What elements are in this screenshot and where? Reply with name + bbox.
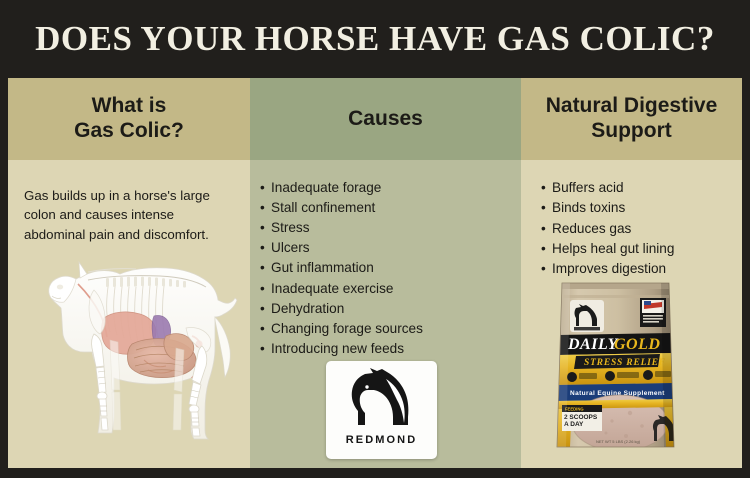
column-3-header-text: Natural Digestive Support	[546, 94, 718, 144]
column-1-header-line1: What is	[92, 94, 167, 117]
svg-text:DAILY: DAILY	[567, 336, 619, 353]
list-item: Stress	[260, 218, 510, 238]
redmond-horse-logo-icon	[346, 367, 418, 433]
list-item: Inadequate forage	[260, 178, 510, 198]
svg-text:GOLD: GOLD	[614, 336, 660, 353]
title-banner: DOES YOUR HORSE HAVE GAS COLIC?	[0, 0, 750, 78]
column-2-header: Causes	[250, 78, 521, 160]
list-item: Binds toxins	[541, 198, 739, 218]
svg-text:FEEDING: FEEDING	[565, 407, 584, 412]
svg-text:2 SCOOPS: 2 SCOOPS	[564, 414, 598, 421]
column-2-header-text: Causes	[348, 107, 423, 132]
horse-anatomy-illustration	[16, 240, 244, 448]
column-1-header: What is Gas Colic?	[8, 78, 250, 160]
causes-list: Inadequate forage Stall confinement Stre…	[260, 178, 510, 359]
column-3-header-line2: Support	[591, 119, 671, 142]
gas-colic-definition: Gas builds up in a horse's large colon a…	[24, 186, 236, 244]
column-1-header-text: What is Gas Colic?	[74, 94, 184, 144]
column-3-header-line1: Natural Digestive	[546, 94, 718, 117]
list-item: Introducing new feeds	[260, 339, 510, 359]
svg-text:A DAY: A DAY	[564, 421, 584, 428]
list-item: Gut inflammation	[260, 258, 510, 278]
column-3-body: Buffers acid Binds toxins Reduces gas He…	[521, 160, 742, 468]
column-natural-digestive-support: Natural Digestive Support Buffers acid B…	[521, 78, 742, 468]
column-1-header-line2: Gas Colic?	[74, 119, 184, 142]
column-3-header: Natural Digestive Support	[521, 78, 742, 160]
list-item: Inadequate exercise	[260, 279, 510, 299]
redmond-logo-card: REDMOND	[326, 361, 437, 459]
list-item: Dehydration	[260, 299, 510, 319]
svg-text:NET WT 5 LBS (2.26 kg): NET WT 5 LBS (2.26 kg)	[596, 439, 641, 444]
page-title: DOES YOUR HORSE HAVE GAS COLIC?	[35, 19, 715, 59]
svg-text:STRESS RELIEF: STRESS RELIEF	[584, 358, 666, 368]
column-2-body: Inadequate forage Stall confinement Stre…	[250, 160, 521, 468]
column-1-body: Gas builds up in a horse's large colon a…	[8, 160, 250, 468]
columns-container: What is Gas Colic? Gas builds up in a ho…	[8, 78, 742, 468]
column-what-is-gas-colic: What is Gas Colic? Gas builds up in a ho…	[8, 78, 250, 468]
infographic-root: DOES YOUR HORSE HAVE GAS COLIC? What is …	[0, 0, 750, 478]
list-item: Stall confinement	[260, 198, 510, 218]
list-item: Buffers acid	[541, 178, 739, 198]
list-item: Reduces gas	[541, 219, 739, 239]
list-item: Changing forage sources	[260, 319, 510, 339]
column-causes: Causes Inadequate forage Stall confineme…	[250, 78, 521, 468]
daily-gold-product-bag: DAILY GOLD STRESS RELIEF	[548, 271, 683, 454]
benefits-list: Buffers acid Binds toxins Reduces gas He…	[541, 178, 739, 279]
redmond-wordmark: REDMOND	[346, 434, 418, 446]
list-item: Ulcers	[260, 238, 510, 258]
list-item: Helps heal gut lining	[541, 239, 739, 259]
